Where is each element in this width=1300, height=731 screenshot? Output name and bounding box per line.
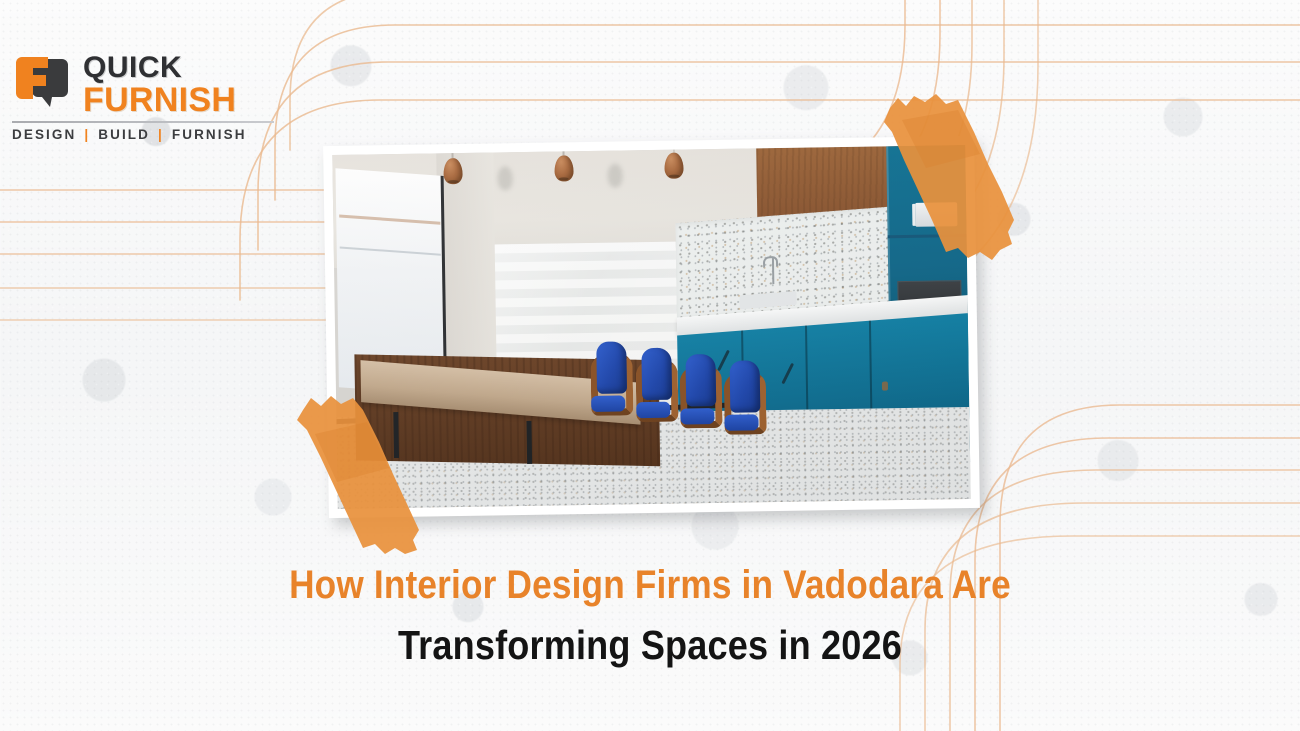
rattan-pendant-light [554,155,573,181]
logo-word-quick: QUICK [83,54,236,83]
stacked-mugs [915,202,957,227]
poster-title: How Interior Design Firms in Vadodara Ar… [0,556,1300,676]
pendant-shadow [608,163,623,187]
tagline-separator-2: | [158,127,164,142]
sink-faucet [772,258,774,284]
title-line-1: How Interior Design Firms in Vadodara Ar… [78,556,1222,615]
interior-scene [332,145,970,509]
logo-row: QUICK FURNISH [12,52,274,116]
tagline-furnish: FURNISH [172,127,247,142]
poster-canvas: QUICK FURNISH DESIGN | BUILD | FURNISH [0,0,1300,731]
fq-monogram-icon [12,53,74,115]
tagline-design: DESIGN [12,127,76,142]
logo-wordmark: QUICK FURNISH [83,52,236,116]
hero-photo-card [323,136,980,518]
rattan-pendant-light [443,158,462,184]
hero-photo [332,145,970,509]
brand-logo[interactable]: QUICK FURNISH DESIGN | BUILD | FURNISH [12,52,274,142]
logo-divider [12,121,274,123]
pendant-shadow [497,166,512,190]
tagline-build: BUILD [98,127,150,142]
title-line-2: Transforming Spaces in 2026 [78,615,1222,676]
logo-tagline: DESIGN | BUILD | FURNISH [12,127,274,142]
logo-word-furnish: FURNISH [83,84,236,117]
tagline-separator-1: | [84,127,90,142]
